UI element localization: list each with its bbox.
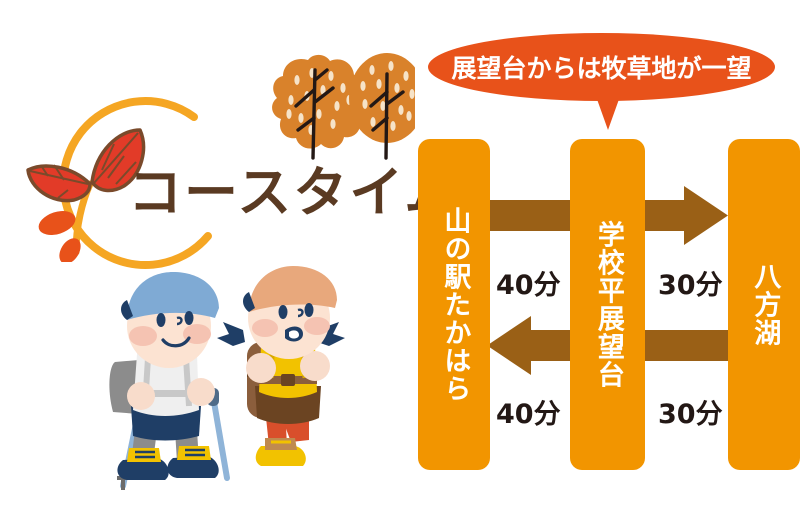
course-time-diagram: 展望台からは牧草地が一望 山の駅たかはら 学校平展望台 八方湖 40分 30分 … [400,0,800,532]
station-yamanoeki[interactable]: 山の駅たかはら [418,139,490,470]
small-leaf-upper [36,207,79,240]
hiker-orange [217,266,345,466]
hiker-blue [109,272,227,490]
time-top-right: 30分 [658,263,723,302]
speech-bubble: 展望台からは牧草地が一望 [428,33,775,101]
infographic-canvas: コースタイム [0,0,800,532]
station-happoko-label: 八方湖 [728,139,800,470]
time-bottom-right: 30分 [658,392,723,431]
small-leaf-lower [55,234,85,262]
time-bottom-left: 40分 [496,392,561,431]
station-gakkoudaira-label: 学校平展望台 [570,139,645,470]
hikers-illustration [95,250,385,510]
illustration-panel: コースタイム [0,0,400,532]
speech-bubble-text: 展望台からは牧草地が一望 [451,49,751,85]
time-top-left: 40分 [496,263,561,302]
station-happoko[interactable]: 八方湖 [728,139,800,470]
autumn-trees-group [265,18,415,168]
station-gakkoudaira[interactable]: 学校平展望台 [570,139,645,470]
station-yamanoeki-label: 山の駅たかはら [418,139,490,470]
